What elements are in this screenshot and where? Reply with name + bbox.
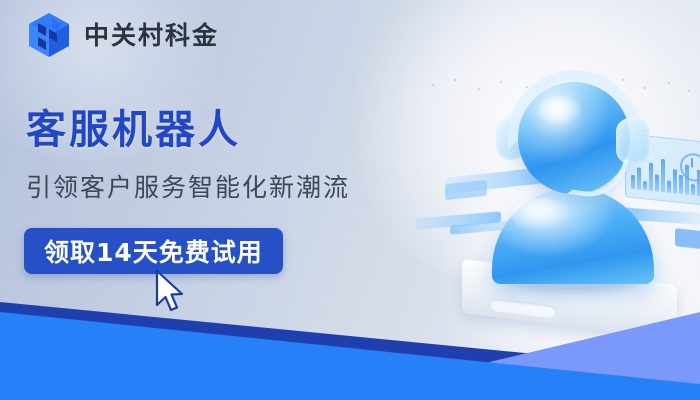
ribbon-bar-1-end — [445, 180, 487, 200]
headset-microphone-boom — [567, 148, 629, 201]
mascot-body-highlight — [512, 198, 572, 232]
ribbon-bar-4 — [675, 228, 700, 250]
mascot-body — [492, 188, 654, 284]
brand-name: 中关村科金 — [84, 23, 219, 48]
mouse-pointer-arrow-icon — [152, 268, 192, 316]
promo-banner: 中关村科金 客服机器人 引领客户服务智能化新潮流 领取14天免费试用 — [0, 0, 700, 400]
page-title: 客服机器人 — [26, 110, 241, 150]
mascot-illustration — [420, 60, 700, 350]
isometric-cube-logo-icon — [26, 11, 72, 59]
brand-logo[interactable]: 中关村科金 — [26, 11, 219, 59]
page-subtitle: 引领客户服务智能化新潮流 — [26, 175, 350, 200]
